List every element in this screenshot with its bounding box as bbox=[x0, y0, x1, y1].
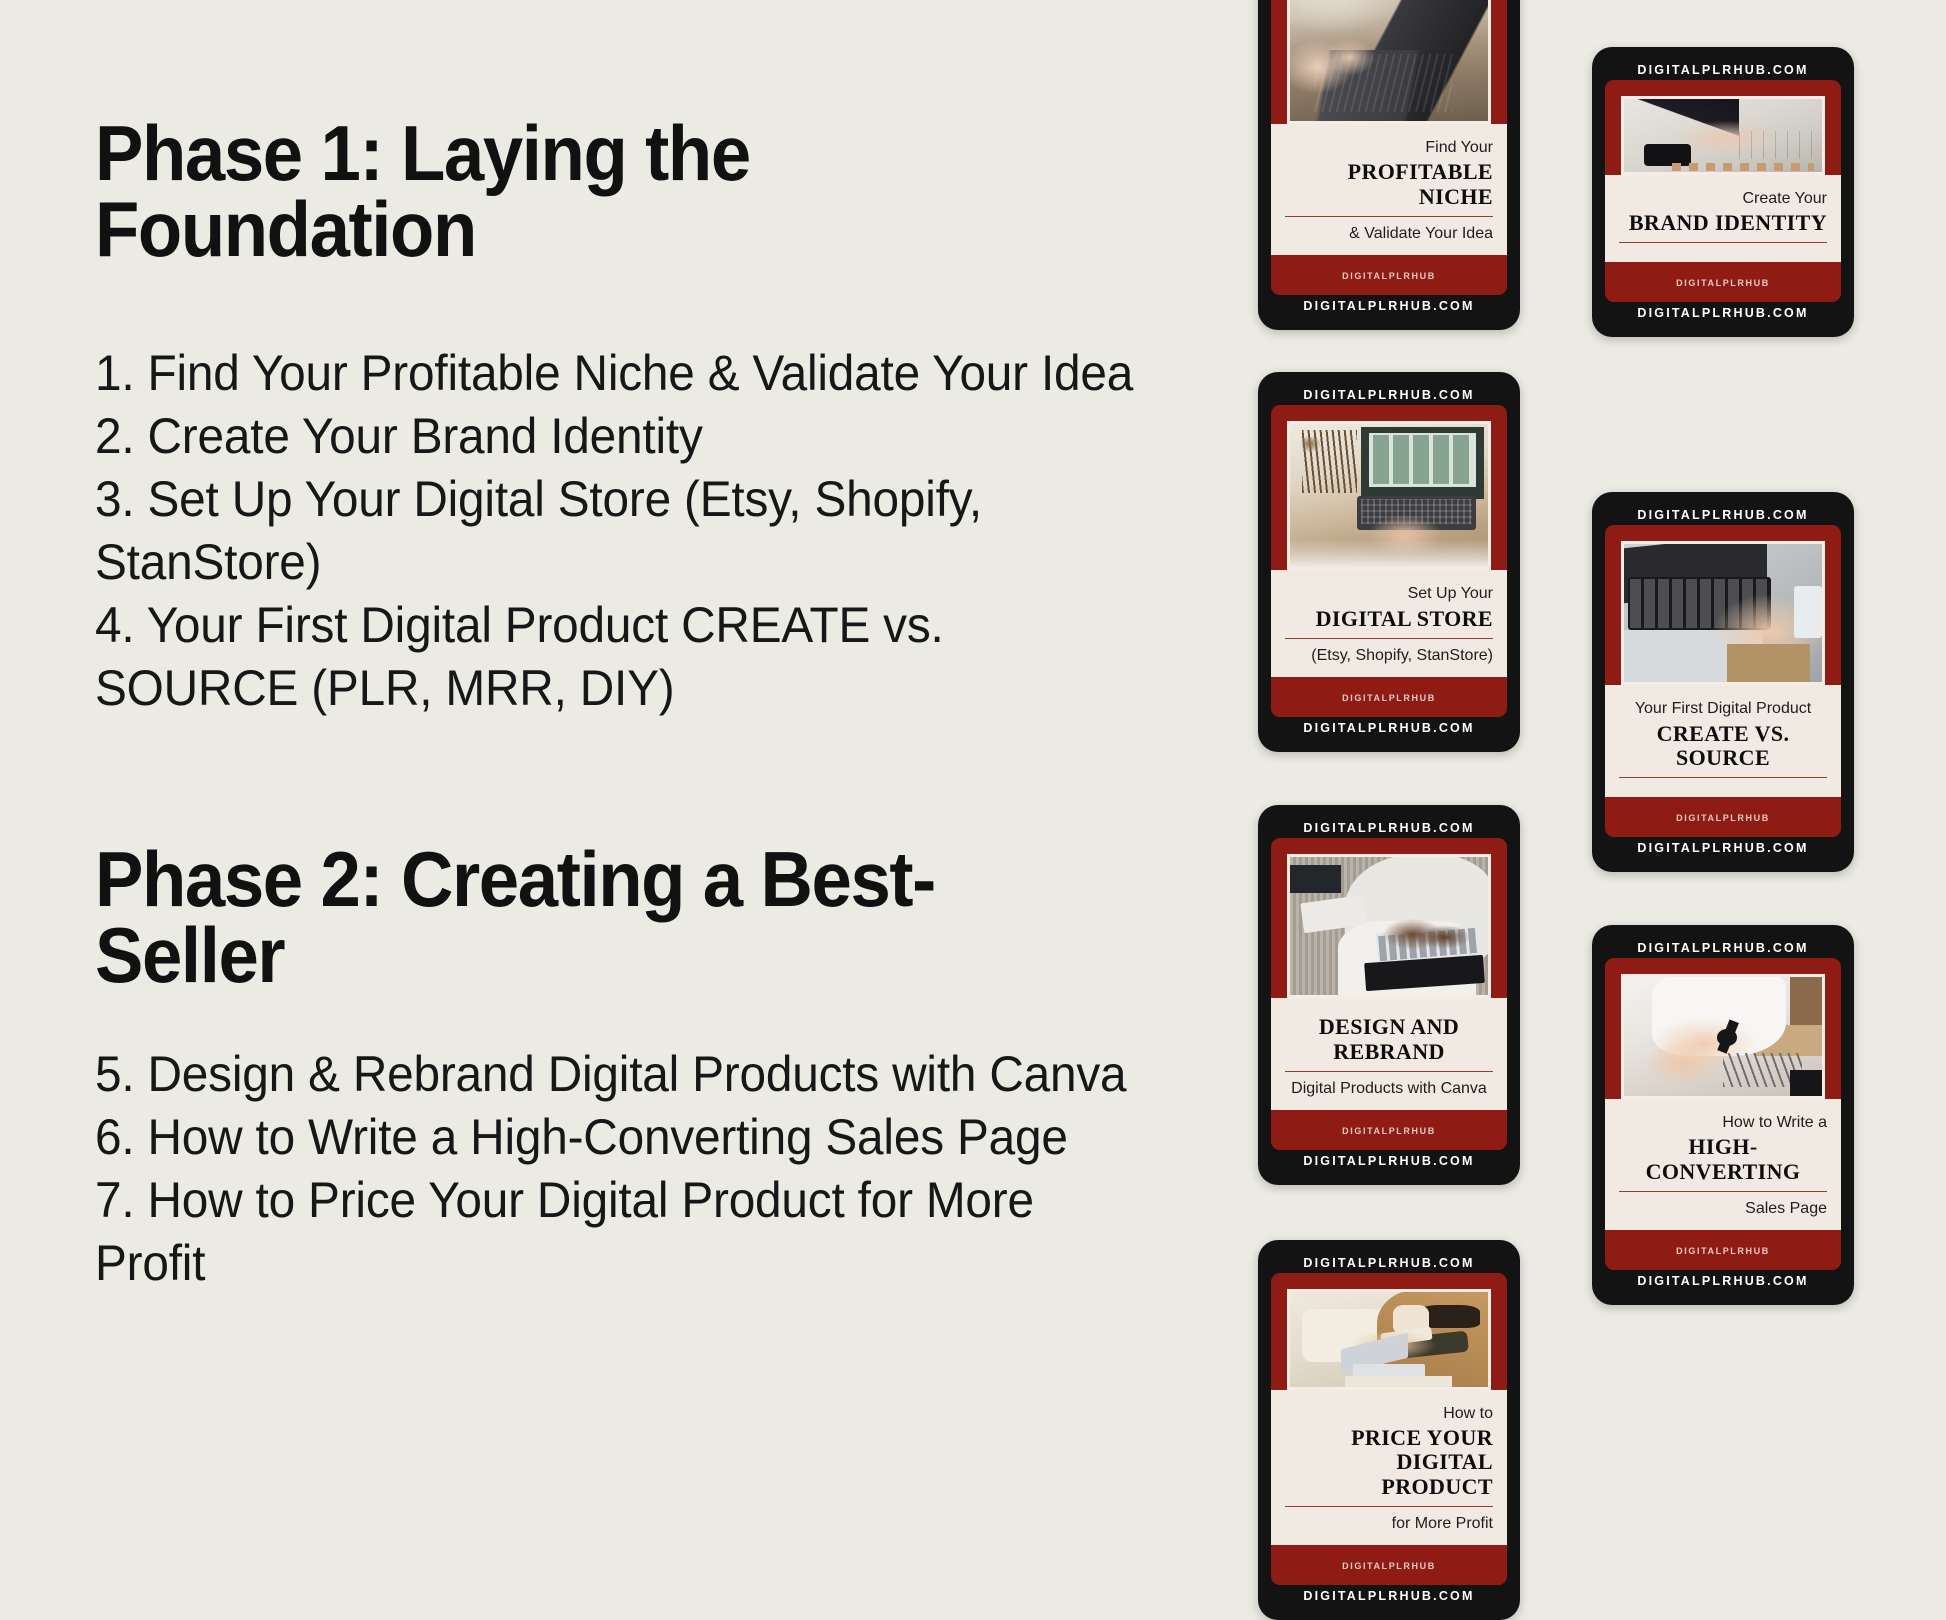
phase-2-heading: Phase 2: Creating a Best-Seller bbox=[95, 842, 1034, 993]
brandmark: DIGITALPLRHUB bbox=[1271, 1110, 1507, 1150]
tablet-mockup-price-your-product: DIGITALPLRHUB.COM How to PRICE YOUR DIGI… bbox=[1258, 1240, 1520, 1620]
cover-photo-brand-identity bbox=[1621, 96, 1825, 175]
caption-rule bbox=[1285, 216, 1493, 217]
tablet-screen: Set Up Your DIGITAL STORE (Etsy, Shopify… bbox=[1271, 405, 1507, 717]
caption-post: & Validate Your Idea bbox=[1285, 224, 1493, 243]
caption-rule bbox=[1285, 1506, 1493, 1507]
tablet-bottom-url: DIGITALPLRHUB.COM bbox=[1605, 302, 1841, 324]
tablet-bottom-url: DIGITALPLRHUB.COM bbox=[1271, 1585, 1507, 1607]
phase-1-list: 1. Find Your Profitable Niche & Validate… bbox=[95, 342, 1205, 720]
caption-main: DESIGN AND REBRAND bbox=[1285, 1015, 1493, 1067]
cover-photo-digital-store bbox=[1287, 421, 1491, 570]
list-item: 3. Set Up Your Digital Store (Etsy, Shop… bbox=[95, 468, 1155, 594]
cover-caption: DESIGN AND REBRAND Digital Products with… bbox=[1271, 998, 1507, 1110]
caption-post: Digital Products with Canva bbox=[1285, 1079, 1493, 1098]
cover-caption: How to Write a HIGH-CONVERTING Sales Pag… bbox=[1605, 1099, 1841, 1230]
caption-main: PROFITABLE NICHE bbox=[1285, 160, 1493, 212]
list-item: 4. Your First Digital Product CREATE vs.… bbox=[95, 594, 1155, 720]
caption-main: CREATE VS. SOURCE bbox=[1619, 722, 1827, 774]
tablet-screen: How to Write a HIGH-CONVERTING Sales Pag… bbox=[1605, 958, 1841, 1270]
tablet-mockup-brand-identity: DIGITALPLRHUB.COM Create Your BRAND IDEN… bbox=[1592, 47, 1854, 337]
caption-rule bbox=[1285, 1071, 1493, 1072]
tablet-top-url: DIGITALPLRHUB.COM bbox=[1271, 818, 1507, 838]
tablet-screen: DESIGN AND REBRAND Digital Products with… bbox=[1271, 838, 1507, 1150]
tablet-bottom-url: DIGITALPLRHUB.COM bbox=[1271, 717, 1507, 739]
caption-post: (Etsy, Shopify, StanStore) bbox=[1285, 646, 1493, 665]
text-column: Phase 1: Laying the Foundation 1. Find Y… bbox=[95, 0, 1205, 1557]
list-item: 1. Find Your Profitable Niche & Validate… bbox=[95, 342, 1155, 405]
caption-post: for More Profit bbox=[1285, 1514, 1493, 1533]
tablet-mockup-digital-store: DIGITALPLRHUB.COM Set Up Your DIGITAL ST… bbox=[1258, 372, 1520, 752]
tablet-bottom-url: DIGITALPLRHUB.COM bbox=[1605, 1270, 1841, 1292]
brandmark: DIGITALPLRHUB bbox=[1271, 1545, 1507, 1585]
brandmark: DIGITALPLRHUB bbox=[1271, 255, 1507, 295]
phase-2-list: 5. Design & Rebrand Digital Products wit… bbox=[95, 1043, 1205, 1295]
list-item: 6. How to Write a High-Converting Sales … bbox=[95, 1106, 1155, 1169]
cover-caption: Your First Digital Product CREATE VS. SO… bbox=[1605, 685, 1841, 797]
tablet-top-url: DIGITALPLRHUB.COM bbox=[1271, 385, 1507, 405]
list-item: 2. Create Your Brand Identity bbox=[95, 405, 1155, 468]
caption-post: Sales Page bbox=[1619, 1199, 1827, 1218]
cover-caption: How to PRICE YOUR DIGITAL PRODUCT for Mo… bbox=[1271, 1390, 1507, 1545]
tablet-top-url: DIGITALPLRHUB.COM bbox=[1605, 938, 1841, 958]
caption-pre: How to bbox=[1285, 1404, 1493, 1423]
caption-rule bbox=[1619, 242, 1827, 243]
caption-pre: Your First Digital Product bbox=[1619, 699, 1827, 718]
tablet-top-url: DIGITALPLRHUB.COM bbox=[1605, 60, 1841, 80]
tablet-top-url: DIGITALPLRHUB.COM bbox=[1605, 505, 1841, 525]
tablet-bottom-url: DIGITALPLRHUB.COM bbox=[1271, 1150, 1507, 1172]
tablet-screen: How to PRICE YOUR DIGITAL PRODUCT for Mo… bbox=[1271, 1273, 1507, 1585]
tablet-mockup-profitable-niche: DIGITALPLRHUB.COM Find Your PROFITABLE N… bbox=[1258, 0, 1520, 330]
caption-pre: Create Your bbox=[1619, 189, 1827, 208]
cover-photo-high-converting bbox=[1621, 974, 1825, 1099]
list-item: 7. How to Price Your Digital Product for… bbox=[95, 1169, 1155, 1295]
tablet-mockup-design-and-rebrand: DIGITALPLRHUB.COM DESIGN AND REBRAND Dig… bbox=[1258, 805, 1520, 1185]
phase-1-heading: Phase 1: Laying the Foundation bbox=[95, 116, 895, 267]
brandmark: DIGITALPLRHUB bbox=[1605, 797, 1841, 837]
caption-main: PRICE YOUR DIGITAL PRODUCT bbox=[1285, 1426, 1493, 1503]
cover-photo-profitable-niche bbox=[1287, 0, 1491, 124]
caption-rule bbox=[1619, 1191, 1827, 1192]
tablet-mockup-high-converting: DIGITALPLRHUB.COM How to Write a HIGH-CO… bbox=[1592, 925, 1854, 1305]
cover-photo-price-your-product bbox=[1287, 1289, 1491, 1390]
caption-pre: Find Your bbox=[1285, 138, 1493, 157]
caption-rule bbox=[1619, 777, 1827, 778]
caption-main: BRAND IDENTITY bbox=[1619, 211, 1827, 239]
tablet-bottom-url: DIGITALPLRHUB.COM bbox=[1605, 837, 1841, 859]
cover-caption: Find Your PROFITABLE NICHE & Validate Yo… bbox=[1271, 124, 1507, 255]
caption-rule bbox=[1285, 638, 1493, 639]
brandmark: DIGITALPLRHUB bbox=[1271, 677, 1507, 717]
cover-photo-create-vs-source bbox=[1621, 541, 1825, 685]
brandmark: DIGITALPLRHUB bbox=[1605, 1230, 1841, 1270]
tablet-screen: Create Your BRAND IDENTITY DIGITALPLRHUB bbox=[1605, 80, 1841, 302]
brandmark: DIGITALPLRHUB bbox=[1605, 262, 1841, 302]
tablet-mockup-create-vs-source: DIGITALPLRHUB.COM Your First Digital Pro… bbox=[1592, 492, 1854, 872]
cover-photo-design-and-rebrand bbox=[1287, 854, 1491, 998]
tablet-screen: Find Your PROFITABLE NICHE & Validate Yo… bbox=[1271, 0, 1507, 295]
tablet-bottom-url: DIGITALPLRHUB.COM bbox=[1271, 295, 1507, 317]
caption-main: DIGITAL STORE bbox=[1285, 607, 1493, 635]
cover-caption: Create Your BRAND IDENTITY bbox=[1605, 175, 1841, 262]
caption-main: HIGH-CONVERTING bbox=[1619, 1135, 1827, 1187]
list-item: 5. Design & Rebrand Digital Products wit… bbox=[95, 1043, 1155, 1106]
caption-pre: How to Write a bbox=[1619, 1113, 1827, 1132]
tablet-screen: Your First Digital Product CREATE VS. SO… bbox=[1605, 525, 1841, 837]
tablet-top-url: DIGITALPLRHUB.COM bbox=[1271, 1253, 1507, 1273]
cover-caption: Set Up Your DIGITAL STORE (Etsy, Shopify… bbox=[1271, 570, 1507, 677]
caption-pre: Set Up Your bbox=[1285, 584, 1493, 603]
